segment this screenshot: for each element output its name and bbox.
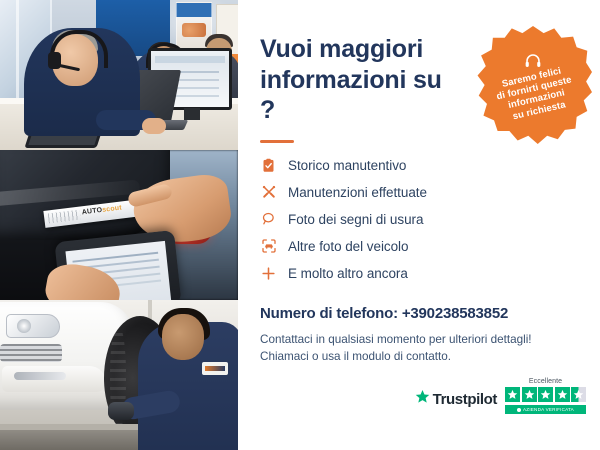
monitor-stand bbox=[184, 108, 200, 120]
list-item: Foto dei segni di usura bbox=[260, 210, 580, 229]
rating-label: Eccellente bbox=[505, 378, 586, 385]
magnifier-icon bbox=[260, 211, 277, 228]
car-fog-light bbox=[14, 372, 66, 380]
list-item-label: Altre foto del veicolo bbox=[288, 239, 408, 254]
list-item: E molto altro ancora bbox=[260, 264, 580, 283]
star-5 bbox=[571, 387, 586, 402]
list-item-label: Foto dei segni di usura bbox=[288, 212, 423, 227]
trustpilot-rating: Eccellente bbox=[505, 378, 586, 414]
tools-cross-icon bbox=[260, 184, 277, 201]
phone-number-line[interactable]: Numero di telefono: +390238583852 bbox=[260, 305, 580, 322]
trustpilot-star-icon bbox=[415, 389, 430, 409]
check-circle-icon bbox=[517, 408, 521, 412]
page-title: Vuoi maggiori informazioni su ? bbox=[260, 34, 460, 126]
list-item-label: E molto altro ancora bbox=[288, 266, 408, 281]
star-1 bbox=[505, 387, 520, 402]
trustpilot-widget[interactable]: Trustpilot Eccellente bbox=[415, 378, 586, 414]
star-4 bbox=[555, 387, 570, 402]
car-inspection-strip-photo: AUTOscout bbox=[0, 150, 238, 300]
trustpilot-wordmark: Trustpilot bbox=[433, 391, 497, 408]
clipboard-check-icon bbox=[260, 157, 277, 174]
mechanic-head bbox=[162, 314, 204, 360]
star-2 bbox=[522, 387, 537, 402]
car-headlight bbox=[6, 314, 60, 338]
accent-divider bbox=[260, 140, 294, 143]
plus-icon bbox=[260, 265, 277, 282]
mechanic-glove bbox=[108, 402, 134, 420]
list-item: Storico manutentivo bbox=[260, 156, 580, 175]
contact-line-2: Chiamaci o usa il modulo di contatto. bbox=[260, 348, 580, 366]
list-item: Manutenzioni effettuate bbox=[260, 183, 580, 202]
uniform-logo bbox=[202, 362, 228, 375]
car-grille bbox=[0, 344, 62, 362]
content-panel: Vuoi maggiori informazioni su ? Saremo f… bbox=[238, 0, 600, 450]
star-rating bbox=[505, 387, 586, 402]
star-3 bbox=[538, 387, 553, 402]
list-item-label: Storico manutentivo bbox=[288, 158, 406, 173]
list-item: Altre foto del veicolo bbox=[260, 237, 580, 256]
feature-list: Storico manutentivo Manutenzioni effettu… bbox=[260, 156, 580, 283]
contact-description: Contattaci in qualsiasi momento per ulte… bbox=[260, 331, 580, 366]
advertisement-banner: AUTOscout bbox=[0, 0, 600, 450]
trustpilot-logo: Trustpilot bbox=[415, 389, 497, 414]
strip-brand-label: AUTOscout bbox=[81, 204, 122, 216]
verified-badge-label: AZIENDA VERIFICATA bbox=[523, 407, 574, 412]
photo-column: AUTOscout bbox=[0, 0, 238, 450]
list-item-label: Manutenzioni effettuate bbox=[288, 185, 427, 200]
callout-badge: Saremo felici di fornirti queste informa… bbox=[474, 26, 592, 144]
car-scan-icon bbox=[260, 238, 277, 255]
contact-line-1: Contattaci in qualsiasi momento per ulte… bbox=[260, 331, 580, 349]
verified-badge: AZIENDA VERIFICATA bbox=[505, 405, 586, 414]
call-center-agents-photo bbox=[0, 0, 238, 150]
foreground-agent-hand bbox=[142, 118, 166, 134]
mechanic-wheel-inspection-photo bbox=[0, 300, 238, 450]
